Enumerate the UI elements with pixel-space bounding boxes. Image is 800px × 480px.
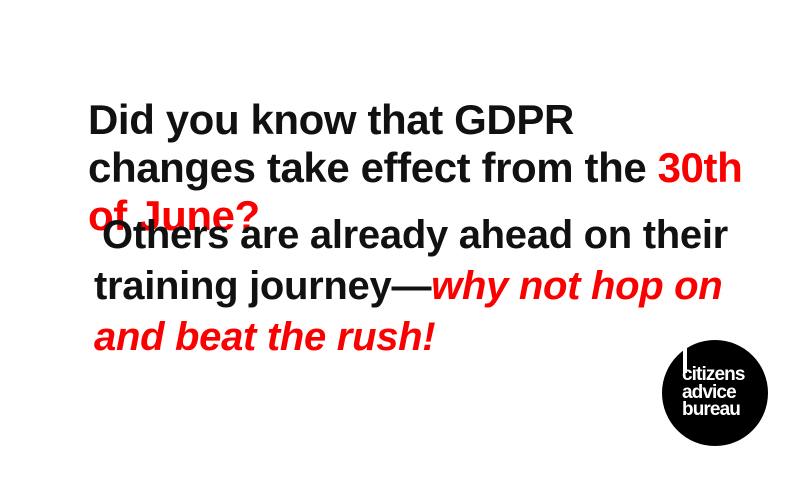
logo-line-bureau: bureau	[682, 401, 762, 419]
poster-canvas: Did you know that GDPR changes take effe…	[0, 0, 800, 480]
body-copy: Others are already ahead on their traini…	[94, 210, 734, 363]
logo-line-citizens: citizens	[682, 366, 762, 384]
logo-wordmark: citizens advice bureau	[682, 366, 762, 419]
citizens-advice-bureau-logo: citizens advice bureau	[662, 340, 768, 446]
em-dash: —	[391, 264, 431, 308]
headline-black-text: Did you know that GDPR changes take effe…	[88, 96, 658, 191]
